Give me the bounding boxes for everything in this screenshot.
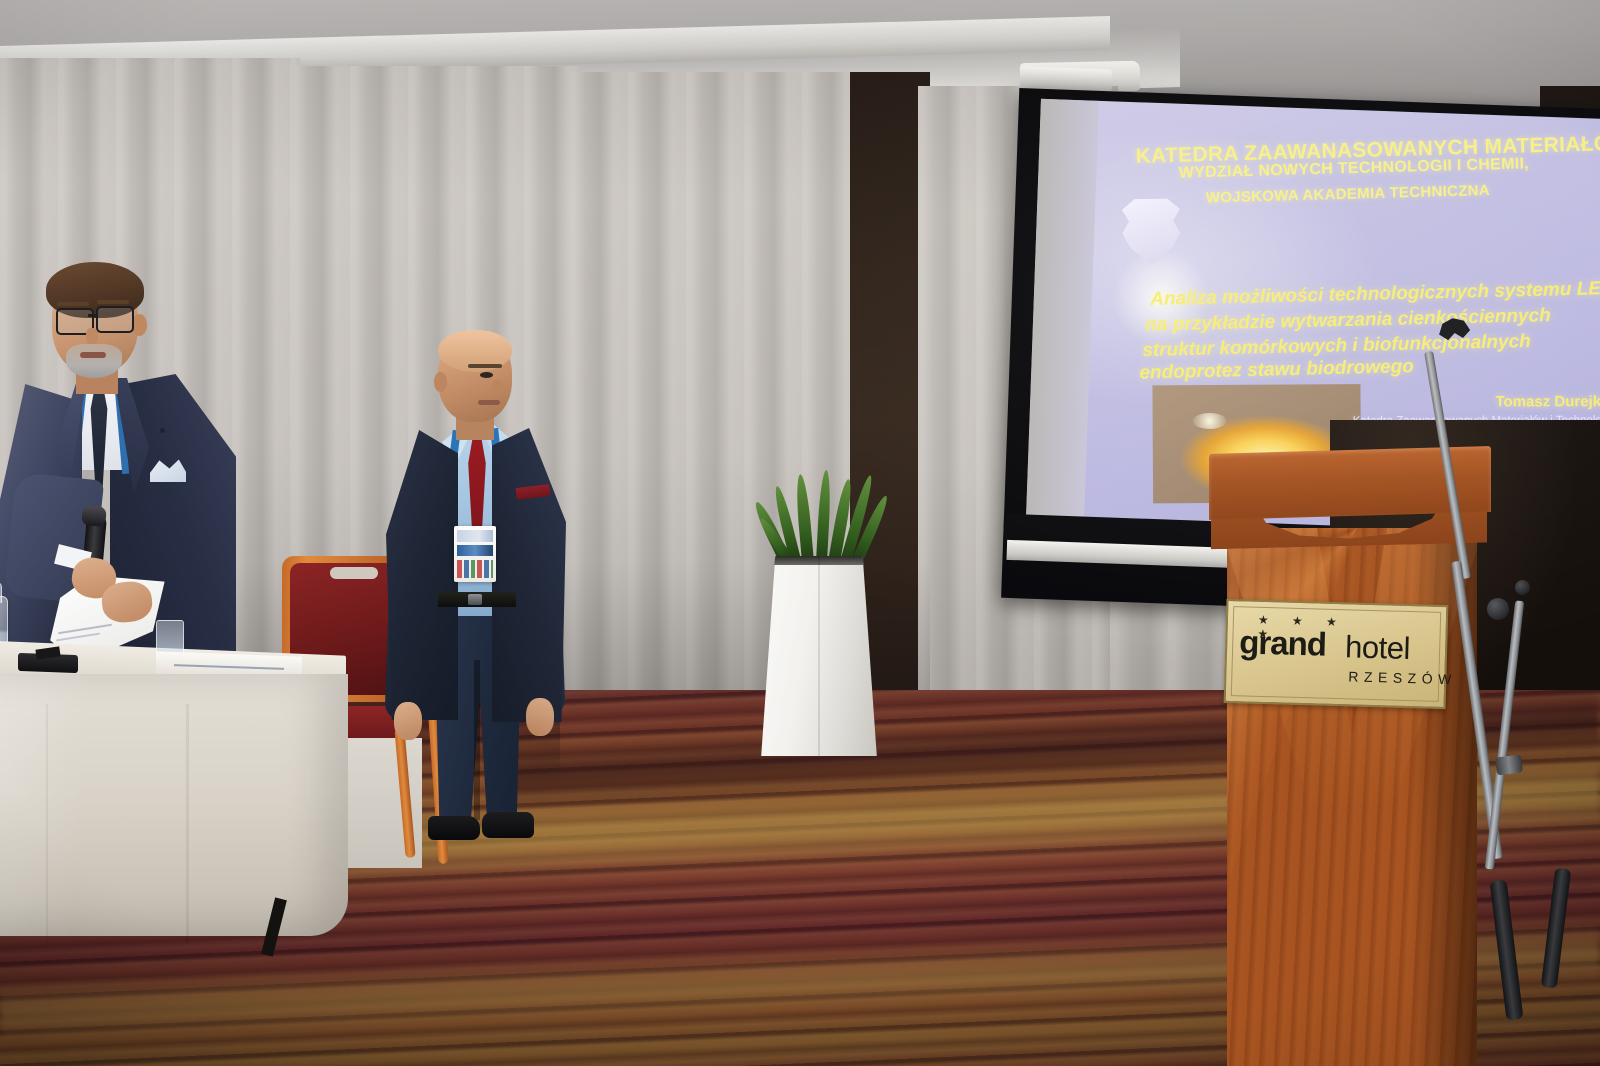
microphone-head <box>81 505 107 527</box>
table-skirt-cloth <box>0 674 348 936</box>
hotel-name-plaque: ★ ★ ★ ★ grand hotel RZESZÓW <box>1224 599 1449 709</box>
cloth-fold <box>46 704 48 944</box>
moderator-nose <box>86 328 98 344</box>
speaker-shoe <box>428 816 480 840</box>
snake-plant <box>770 470 880 565</box>
moderator-eyebrow <box>97 300 129 304</box>
chair-back-notch <box>330 567 378 579</box>
moderator-lapel-pin <box>160 428 165 433</box>
moderator-ear <box>132 314 147 336</box>
badge-banner <box>457 545 493 556</box>
speaker-leg-shadow <box>474 660 480 820</box>
speaker-eyebrow <box>468 364 502 368</box>
speaker-hand-right <box>526 698 554 736</box>
plaque-brand-hotel: hotel <box>1345 628 1411 668</box>
eyeglasses-lens <box>96 306 134 333</box>
planter-corner-edge <box>818 556 820 756</box>
moderator-goatee <box>66 344 122 378</box>
moderator-eyebrow <box>57 302 89 306</box>
mic-stand-collar <box>1495 754 1523 775</box>
badge-header <box>457 530 493 542</box>
moderator-mouth <box>80 352 106 358</box>
speaker-hand-left <box>394 702 422 740</box>
slide-author-name: Tomasz Durejko <box>1496 393 1600 410</box>
person-speaker <box>380 330 570 860</box>
conference-badge <box>454 526 496 582</box>
carafe-neck <box>0 582 2 603</box>
speaker-jacket-left <box>386 430 458 720</box>
lectern-podium: ★ ★ ★ ★ grand hotel RZESZÓW <box>1205 450 1495 1066</box>
speaker-jacket-right <box>492 428 566 722</box>
head-table <box>0 648 360 958</box>
speaker-ear <box>434 372 447 392</box>
speaker-shoe <box>482 812 534 838</box>
speaker-mouth <box>478 400 500 405</box>
person-moderator <box>0 262 250 692</box>
slide-header-line-3: WOJSKOWA AKADEMIA TECHNICZNA <box>1206 182 1491 207</box>
conference-room-photo: KATEDRA ZAAWANASOWANYCH MATERIAŁÓW I TEC… <box>0 0 1600 1066</box>
speaker-eye <box>480 372 493 378</box>
belt-buckle <box>468 594 482 605</box>
eyeglasses-bridge <box>88 314 98 317</box>
mic-stand-adjust-knob <box>1515 580 1530 595</box>
cloth-fold <box>186 704 189 944</box>
plaque-brand-grand: grand <box>1239 623 1327 663</box>
badge-sponsor-logos <box>457 560 493 578</box>
mic-stand-adjust-knob <box>1487 598 1509 620</box>
photo-specular-highlight <box>1193 413 1227 429</box>
plaque-city-name: RZESZÓW <box>1348 668 1457 687</box>
speaker-nose <box>492 380 503 395</box>
